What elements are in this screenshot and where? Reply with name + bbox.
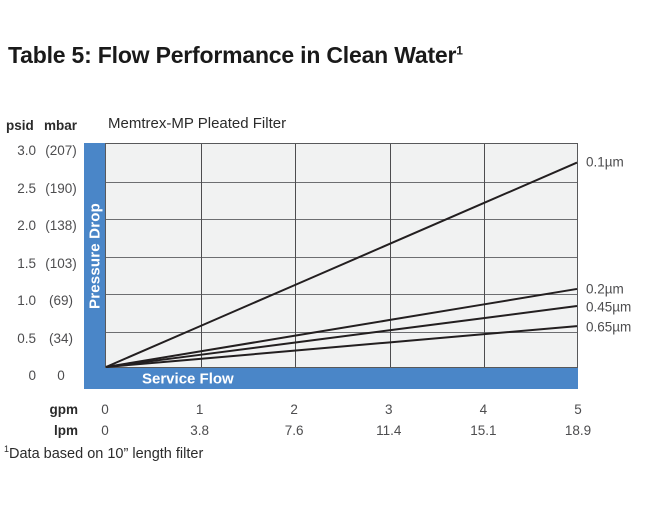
y-axis-band: Pressure Drop [84,143,106,368]
y-tick-mbar: (34) [42,331,80,346]
y-tick-psid: 1.0 [4,293,36,308]
y-tick-psid: 2.0 [4,218,36,233]
x-tick-lpm: 15.1 [470,423,496,438]
x-tick-lpm: 11.4 [376,423,401,438]
page-title-text: Table 5: Flow Performance in Clean Water [8,42,456,68]
y-tick-psid: 0.5 [4,331,36,346]
chart-plot-area [105,143,578,368]
y-axis-band-label: Pressure Drop [87,203,104,309]
y-axis-unit-primary: psid [6,118,34,133]
x-tick-gpm: 5 [574,402,582,417]
x-tick-lpm: 18.9 [565,423,591,438]
footnote-text: Data based on 10” length filter [9,446,203,462]
x-axis-unit-secondary: lpm [18,423,78,438]
y-tick-psid: 2.5 [4,181,36,196]
page-title: Table 5: Flow Performance in Clean Water… [8,42,463,69]
y-tick-mbar: (69) [42,293,80,308]
y-tick-mbar: (207) [42,143,80,158]
series-label-0.45µm: 0.45µm [586,299,631,314]
series-line-0.2µm [106,289,577,367]
x-tick-lpm: 0 [101,423,109,438]
x-axis-unit-primary: gpm [18,402,78,417]
series-label-0.1µm: 0.1µm [586,154,624,169]
x-axis-band-label: Service Flow [142,370,234,387]
series-line-0.65µm [106,326,577,367]
page-title-superscript: 1 [456,43,462,57]
y-tick-mbar: (190) [42,181,80,196]
y-axis-unit-secondary: mbar [44,118,77,133]
x-tick-gpm: 0 [101,402,109,417]
y-tick-psid: 0 [4,368,36,383]
x-axis-band: Service Flow [84,368,578,389]
x-tick-lpm: 3.8 [190,423,209,438]
series-label-0.65µm: 0.65µm [586,319,631,334]
chart-subtitle: Memtrex-MP Pleated Filter [108,115,286,132]
x-tick-gpm: 3 [385,402,393,417]
x-tick-gpm: 1 [196,402,204,417]
y-tick-mbar: (103) [42,256,80,271]
y-tick-psid: 1.5 [4,256,36,271]
y-tick-mbar: (138) [42,218,80,233]
x-tick-lpm: 7.6 [285,423,304,438]
x-tick-gpm: 2 [290,402,298,417]
series-lines [106,144,577,367]
x-tick-gpm: 4 [480,402,488,417]
y-tick-mbar: 0 [42,368,80,383]
series-label-0.2µm: 0.2µm [586,282,624,297]
y-tick-psid: 3.0 [4,143,36,158]
footnote: 1Data based on 10” length filter [4,446,203,462]
